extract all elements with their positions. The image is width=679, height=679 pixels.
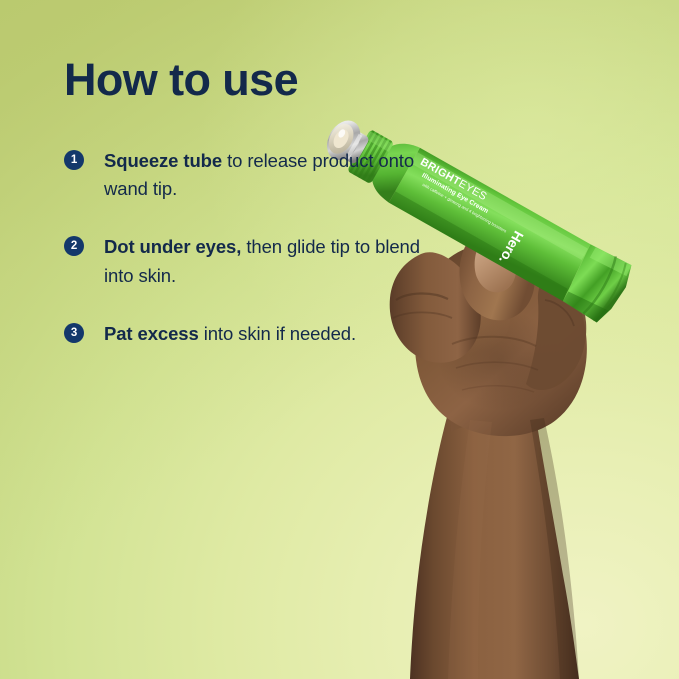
steps-list: 1 Squeeze tube to release product onto w… — [64, 147, 424, 348]
step-bold-text-3: Pat excess — [104, 323, 199, 344]
step-number-badge-1: 1 — [64, 150, 84, 170]
product-instructions-image: BRIGHTEYES Illuminating Eye Cream with c… — [0, 0, 679, 679]
step-rest-text-3: into skin if needed. — [199, 323, 356, 344]
step-number-badge-2: 2 — [64, 236, 84, 256]
step-item-1: 1 Squeeze tube to release product onto w… — [64, 147, 424, 203]
page-title: How to use — [64, 56, 424, 103]
step-number-badge-3: 3 — [64, 323, 84, 343]
step-bold-text-2: Dot under eyes, — [104, 236, 241, 257]
step-item-2: 2 Dot under eyes, then glide tip to blen… — [64, 233, 424, 289]
instructions-panel: How to use 1 Squeeze tube to release pro… — [64, 56, 424, 348]
step-item-3: 3 Pat excess into skin if needed. — [64, 320, 424, 348]
step-bold-text-1: Squeeze tube — [104, 150, 222, 171]
